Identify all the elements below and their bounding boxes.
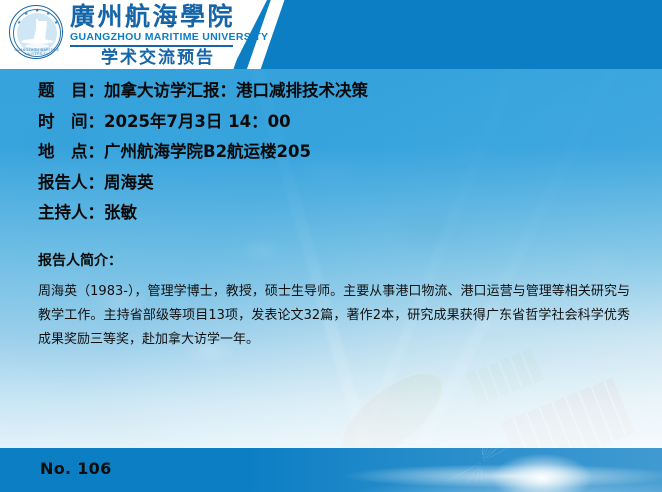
logo-seal-text: GUANGZHOU MARITIME UNIVERSITY <box>10 48 64 56</box>
university-name-en: GUANGZHOU MARITIME UNIVERSITY <box>70 31 268 43</box>
info-row-location: 地 点： 广州航海学院B2航运楼205 <box>38 141 638 163</box>
info-value: 张敏 <box>104 202 137 224</box>
speaker-bio-section: 报告人简介： 周海英（1983-），管理学博士，教授，硕士生导师。主要从事港口物… <box>38 250 630 352</box>
info-value: 2025年7月3日 14：00 <box>104 111 291 133</box>
info-label: 地 点： <box>38 141 104 163</box>
university-name-cn: 廣州航海學院 <box>70 3 235 30</box>
light-rays-graphic <box>402 448 562 486</box>
info-value: 周海英 <box>104 172 154 194</box>
logo-sailboat-icon <box>17 13 57 53</box>
poster-header: ★ ★ ★ ★ ★ GUANGZHOU MARITIME UNIVERSITY … <box>0 0 662 69</box>
seminar-info-list: 题 目： 加拿大访学汇报：港口减排技术决策 时 间： 2025年7月3日 14：… <box>38 80 638 233</box>
info-label: 时 间： <box>38 111 104 133</box>
header-subtitle: 学术交流预告 <box>78 47 238 68</box>
bio-paragraph: 周海英（1983-），管理学博士，教授，硕士生导师。主要从事港口物流、港口运营与… <box>38 280 630 352</box>
info-label: 主持人： <box>38 202 104 224</box>
info-label: 报告人： <box>38 172 104 194</box>
info-row-time: 时 间： 2025年7月3日 14：00 <box>38 111 638 133</box>
info-row-host: 主持人： 张敏 <box>38 202 638 224</box>
seminar-poster: ★ ★ ★ ★ ★ GUANGZHOU MARITIME UNIVERSITY … <box>0 0 662 492</box>
info-label: 题 目： <box>38 80 104 102</box>
blue-gradient-overlay <box>0 0 662 492</box>
info-row-speaker: 报告人： 周海英 <box>38 172 638 194</box>
bio-heading: 报告人简介： <box>38 250 630 272</box>
background-campus-photo <box>0 0 662 492</box>
info-value: 广州航海学院B2航运楼205 <box>104 141 311 163</box>
info-row-title: 题 目： 加拿大访学汇报：港口减排技术决策 <box>38 80 638 102</box>
university-logo: ★ ★ ★ ★ ★ GUANGZHOU MARITIME UNIVERSITY <box>9 5 63 59</box>
issue-number: No. 106 <box>40 459 112 479</box>
info-value: 加拿大访学汇报：港口减排技术决策 <box>104 80 368 102</box>
poster-footer: No. 106 <box>0 448 662 492</box>
header-blue-panel <box>232 0 662 69</box>
